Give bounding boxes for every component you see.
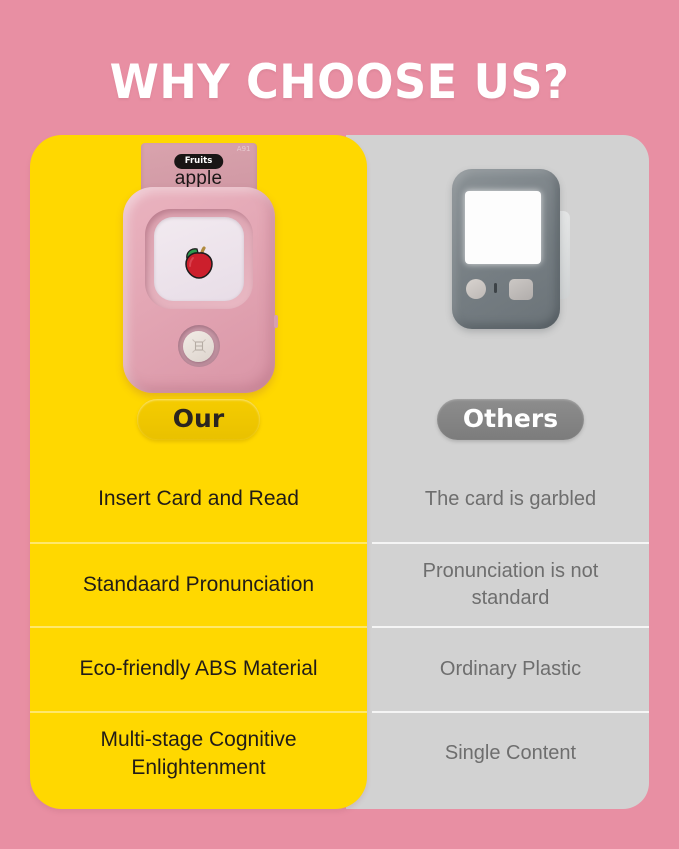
- others-column: Others The card is garbled Pronunciation…: [372, 135, 649, 809]
- feature-text: Ordinary Plastic: [440, 656, 581, 683]
- feature-row: Single Content: [372, 711, 649, 796]
- device-round-button[interactable]: [466, 279, 486, 299]
- feature-text: The card is garbled: [425, 486, 596, 513]
- feature-text: Eco-friendly ABS Material: [79, 655, 317, 683]
- gray-generic-reader-device: [452, 169, 570, 329]
- feature-text: Standaard Pronunciation: [83, 571, 314, 599]
- device-side-port: [274, 315, 278, 328]
- feature-row: Pronunciation is not standard: [372, 542, 649, 627]
- our-pill-wrap: Our: [30, 393, 367, 445]
- card-insert-button-cap: [183, 331, 214, 362]
- card-slot-icon: [191, 338, 207, 354]
- pink-card-reader-device: A91 Fruits apple: [123, 143, 275, 393]
- card-insert-button[interactable]: [178, 325, 220, 367]
- device-body: [452, 169, 560, 329]
- feature-row: Standaard Pronunciation: [30, 542, 367, 627]
- apple-icon: [176, 236, 222, 282]
- device-square-button[interactable]: [509, 279, 533, 300]
- feature-text: Single Content: [445, 740, 576, 767]
- feature-text: Pronunciation is not standard: [396, 558, 625, 612]
- device-screen-blank: [465, 191, 541, 264]
- others-feature-list: The card is garbled Pronunciation is not…: [372, 457, 649, 809]
- feature-row: Multi-stage Cognitive Enlightenment: [30, 711, 367, 796]
- feature-row: Insert Card and Read: [30, 457, 367, 542]
- comparison-board: A91 Fruits apple: [30, 135, 649, 809]
- others-product-area: [372, 135, 649, 393]
- device-screen: [154, 217, 244, 301]
- feature-row: The card is garbled: [372, 457, 649, 542]
- feature-row: Eco-friendly ABS Material: [30, 626, 367, 711]
- page-title: WHY CHOOSE US?: [17, 55, 662, 110]
- our-feature-list: Insert Card and Read Standaard Pronuncia…: [30, 457, 367, 809]
- others-pill-wrap: Others: [372, 393, 649, 445]
- our-column: A91 Fruits apple: [30, 135, 367, 809]
- device-screen-bezel: [145, 209, 253, 309]
- our-product-area: A91 Fruits apple: [30, 135, 367, 393]
- card-code-label: A91: [237, 145, 251, 153]
- device-body: [123, 187, 275, 393]
- card-category-badge: Fruits: [174, 154, 224, 169]
- feature-text: Insert Card and Read: [98, 485, 299, 513]
- device-indicator-dot: [494, 283, 497, 293]
- feature-row: Ordinary Plastic: [372, 626, 649, 711]
- our-label-pill: Our: [137, 399, 260, 440]
- others-label-pill: Others: [437, 399, 584, 440]
- feature-text: Multi-stage Cognitive Enlightenment: [56, 726, 341, 781]
